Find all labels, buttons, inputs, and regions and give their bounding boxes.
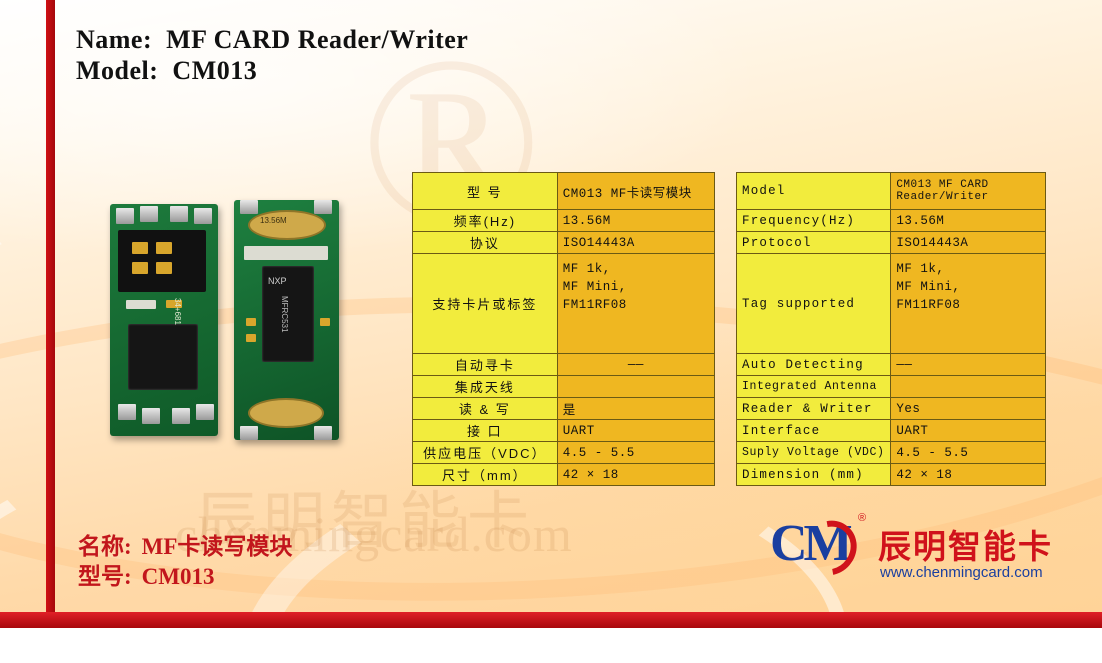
- header-name-line: Name:MF CARD Reader/Writer: [76, 24, 468, 55]
- cell-key: Model: [737, 173, 891, 210]
- product-photo: 34+681 13.56M NXP MFRC531: [92, 196, 357, 461]
- table-row: Protocol ISO14443A: [737, 232, 1046, 254]
- cell-value: UART: [557, 420, 714, 442]
- left-red-bar: [46, 0, 55, 612]
- footer-name-value: MF卡读写模块: [142, 534, 293, 559]
- pcb-front-view: 34+681: [110, 204, 218, 436]
- ic-part-label: MFRC531: [280, 296, 289, 332]
- pcb-back-view: 13.56M NXP MFRC531: [234, 200, 339, 440]
- table-row: 自动寻卡 ——: [413, 354, 715, 376]
- cell-key: Suply Voltage (VDC): [737, 442, 891, 464]
- cell-key: 自动寻卡: [413, 354, 558, 376]
- cell-value: ——: [557, 354, 714, 376]
- ic-brand-label: NXP: [268, 276, 287, 286]
- footer-block: 名称:MF卡读写模块 型号:CM013: [78, 532, 292, 592]
- cell-key: Integrated Antenna: [737, 376, 891, 398]
- logo-website-url[interactable]: www.chenmingcard.com: [880, 564, 1043, 581]
- cell-value: [891, 376, 1046, 398]
- cell-value: ISO14443A: [891, 232, 1046, 254]
- bottom-red-bar: [0, 612, 1102, 628]
- cell-value: Yes: [891, 398, 1046, 420]
- company-logo: CM ® 辰明智能卡 www.chenmingcard.com: [770, 512, 1070, 582]
- table-row: Dimension (mm) 42 × 18: [737, 464, 1046, 486]
- cell-key: Interface: [737, 420, 891, 442]
- cell-value: [557, 376, 714, 398]
- table-row: 频率(Hz) 13.56M: [413, 210, 715, 232]
- cell-key: 尺寸（mm）: [413, 464, 558, 486]
- table-row: Tag supported MF 1k, MF Mini, FM11RF08: [737, 254, 1046, 354]
- cell-value: ——: [891, 354, 1046, 376]
- cell-value: 13.56M: [891, 210, 1046, 232]
- cell-key: 协议: [413, 232, 558, 254]
- bottom-white-margin: [0, 628, 1102, 663]
- cell-value: 4.5 - 5.5: [891, 442, 1046, 464]
- table-row: 集成天线: [413, 376, 715, 398]
- table-row: 供应电压（VDC） 4.5 - 5.5: [413, 442, 715, 464]
- cell-key: 接 口: [413, 420, 558, 442]
- cell-key: Tag supported: [737, 254, 891, 354]
- header-model-value: CM013: [172, 55, 257, 86]
- header-model-line: Model:CM013: [76, 55, 468, 86]
- table-row: Auto Detecting ——: [737, 354, 1046, 376]
- crystal-oscillator: [248, 210, 326, 240]
- table-row: 接 口 UART: [413, 420, 715, 442]
- table-row: 协议 ISO14443A: [413, 232, 715, 254]
- cell-value: 42 × 18: [891, 464, 1046, 486]
- product-datasheet-page: ® 辰明智能卡 chenmingcard.com Name:MF CARD Re…: [0, 0, 1102, 663]
- antenna-pad: [248, 398, 324, 428]
- footer-model-line: 型号:CM013: [78, 562, 292, 592]
- cell-key: 型 号: [413, 173, 558, 210]
- cell-value: CM013 MF卡读写模块: [557, 173, 714, 210]
- cell-value: MF 1k, MF Mini, FM11RF08: [891, 254, 1046, 354]
- table-row: Interface UART: [737, 420, 1046, 442]
- table-row: Reader & Writer Yes: [737, 398, 1046, 420]
- footer-name-line: 名称:MF卡读写模块: [78, 532, 292, 562]
- cell-value: 42 × 18: [557, 464, 714, 486]
- crystal-label: 13.56M: [260, 216, 287, 225]
- cell-value: ISO14443A: [557, 232, 714, 254]
- cell-value: UART: [891, 420, 1046, 442]
- header-name-label: Name:: [76, 24, 152, 55]
- header-name-value: MF CARD Reader/Writer: [166, 24, 468, 55]
- cell-key: 供应电压（VDC）: [413, 442, 558, 464]
- table-row: 支持卡片或标签 MF 1k, MF Mini, FM11RF08: [413, 254, 715, 354]
- cell-key: Auto Detecting: [737, 354, 891, 376]
- spec-table-cn: 型 号 CM013 MF卡读写模块 频率(Hz) 13.56M 协议 ISO14…: [412, 172, 715, 486]
- pcb-silkscreen-left: 34+681: [173, 298, 182, 325]
- footer-name-label: 名称:: [78, 534, 132, 559]
- cell-key: Reader & Writer: [737, 398, 891, 420]
- cell-key: 集成天线: [413, 376, 558, 398]
- footer-model-value: CM013: [142, 564, 215, 589]
- header-block: Name:MF CARD Reader/Writer Model:CM013: [76, 24, 468, 86]
- table-row: 尺寸（mm） 42 × 18: [413, 464, 715, 486]
- cell-value: 4.5 - 5.5: [557, 442, 714, 464]
- table-row: 读 & 写 是: [413, 398, 715, 420]
- cell-key: 频率(Hz): [413, 210, 558, 232]
- cell-value: MF 1k, MF Mini, FM11RF08: [557, 254, 714, 354]
- cell-key: Protocol: [737, 232, 891, 254]
- cell-key: 支持卡片或标签: [413, 254, 558, 354]
- table-row: Integrated Antenna: [737, 376, 1046, 398]
- cell-value: CM013 MF CARD Reader/Writer: [891, 173, 1046, 210]
- cell-key: Dimension (mm): [737, 464, 891, 486]
- table-row: Suply Voltage (VDC) 4.5 - 5.5: [737, 442, 1046, 464]
- table-row: Frequency(Hz) 13.56M: [737, 210, 1046, 232]
- header-model-label: Model:: [76, 55, 158, 86]
- registered-trademark-icon: ®: [858, 512, 866, 524]
- table-row: 型 号 CM013 MF卡读写模块: [413, 173, 715, 210]
- cell-key: Frequency(Hz): [737, 210, 891, 232]
- cell-value: 是: [557, 398, 714, 420]
- spec-table-en: Model CM013 MF CARD Reader/Writer Freque…: [736, 172, 1046, 486]
- logo-company-name: 辰明智能卡: [878, 520, 1053, 568]
- cell-key: 读 & 写: [413, 398, 558, 420]
- table-row: Model CM013 MF CARD Reader/Writer: [737, 173, 1046, 210]
- footer-model-label: 型号:: [78, 564, 132, 589]
- cell-value: 13.56M: [557, 210, 714, 232]
